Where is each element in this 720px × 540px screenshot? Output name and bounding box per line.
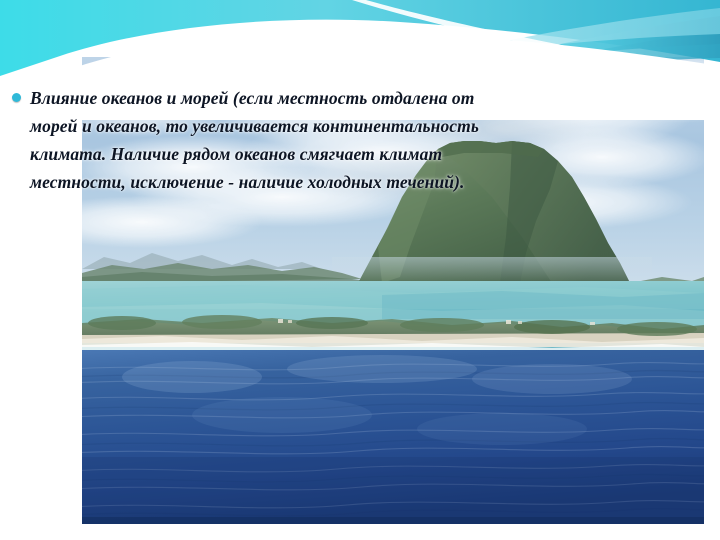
bullet-item-text: Влияние океанов и морей (если местность … bbox=[30, 84, 512, 196]
swoosh-white-sliver bbox=[352, 0, 640, 60]
bullet-list-item: Влияние океанов и морей (если местность … bbox=[12, 84, 512, 196]
presentation-slide: Влияние океанов и морей (если местность … bbox=[0, 0, 720, 540]
content-text-block: Влияние океанов и морей (если местность … bbox=[12, 84, 512, 196]
swoosh-highlight bbox=[410, 8, 720, 62]
bullet-dot-icon bbox=[12, 93, 21, 102]
